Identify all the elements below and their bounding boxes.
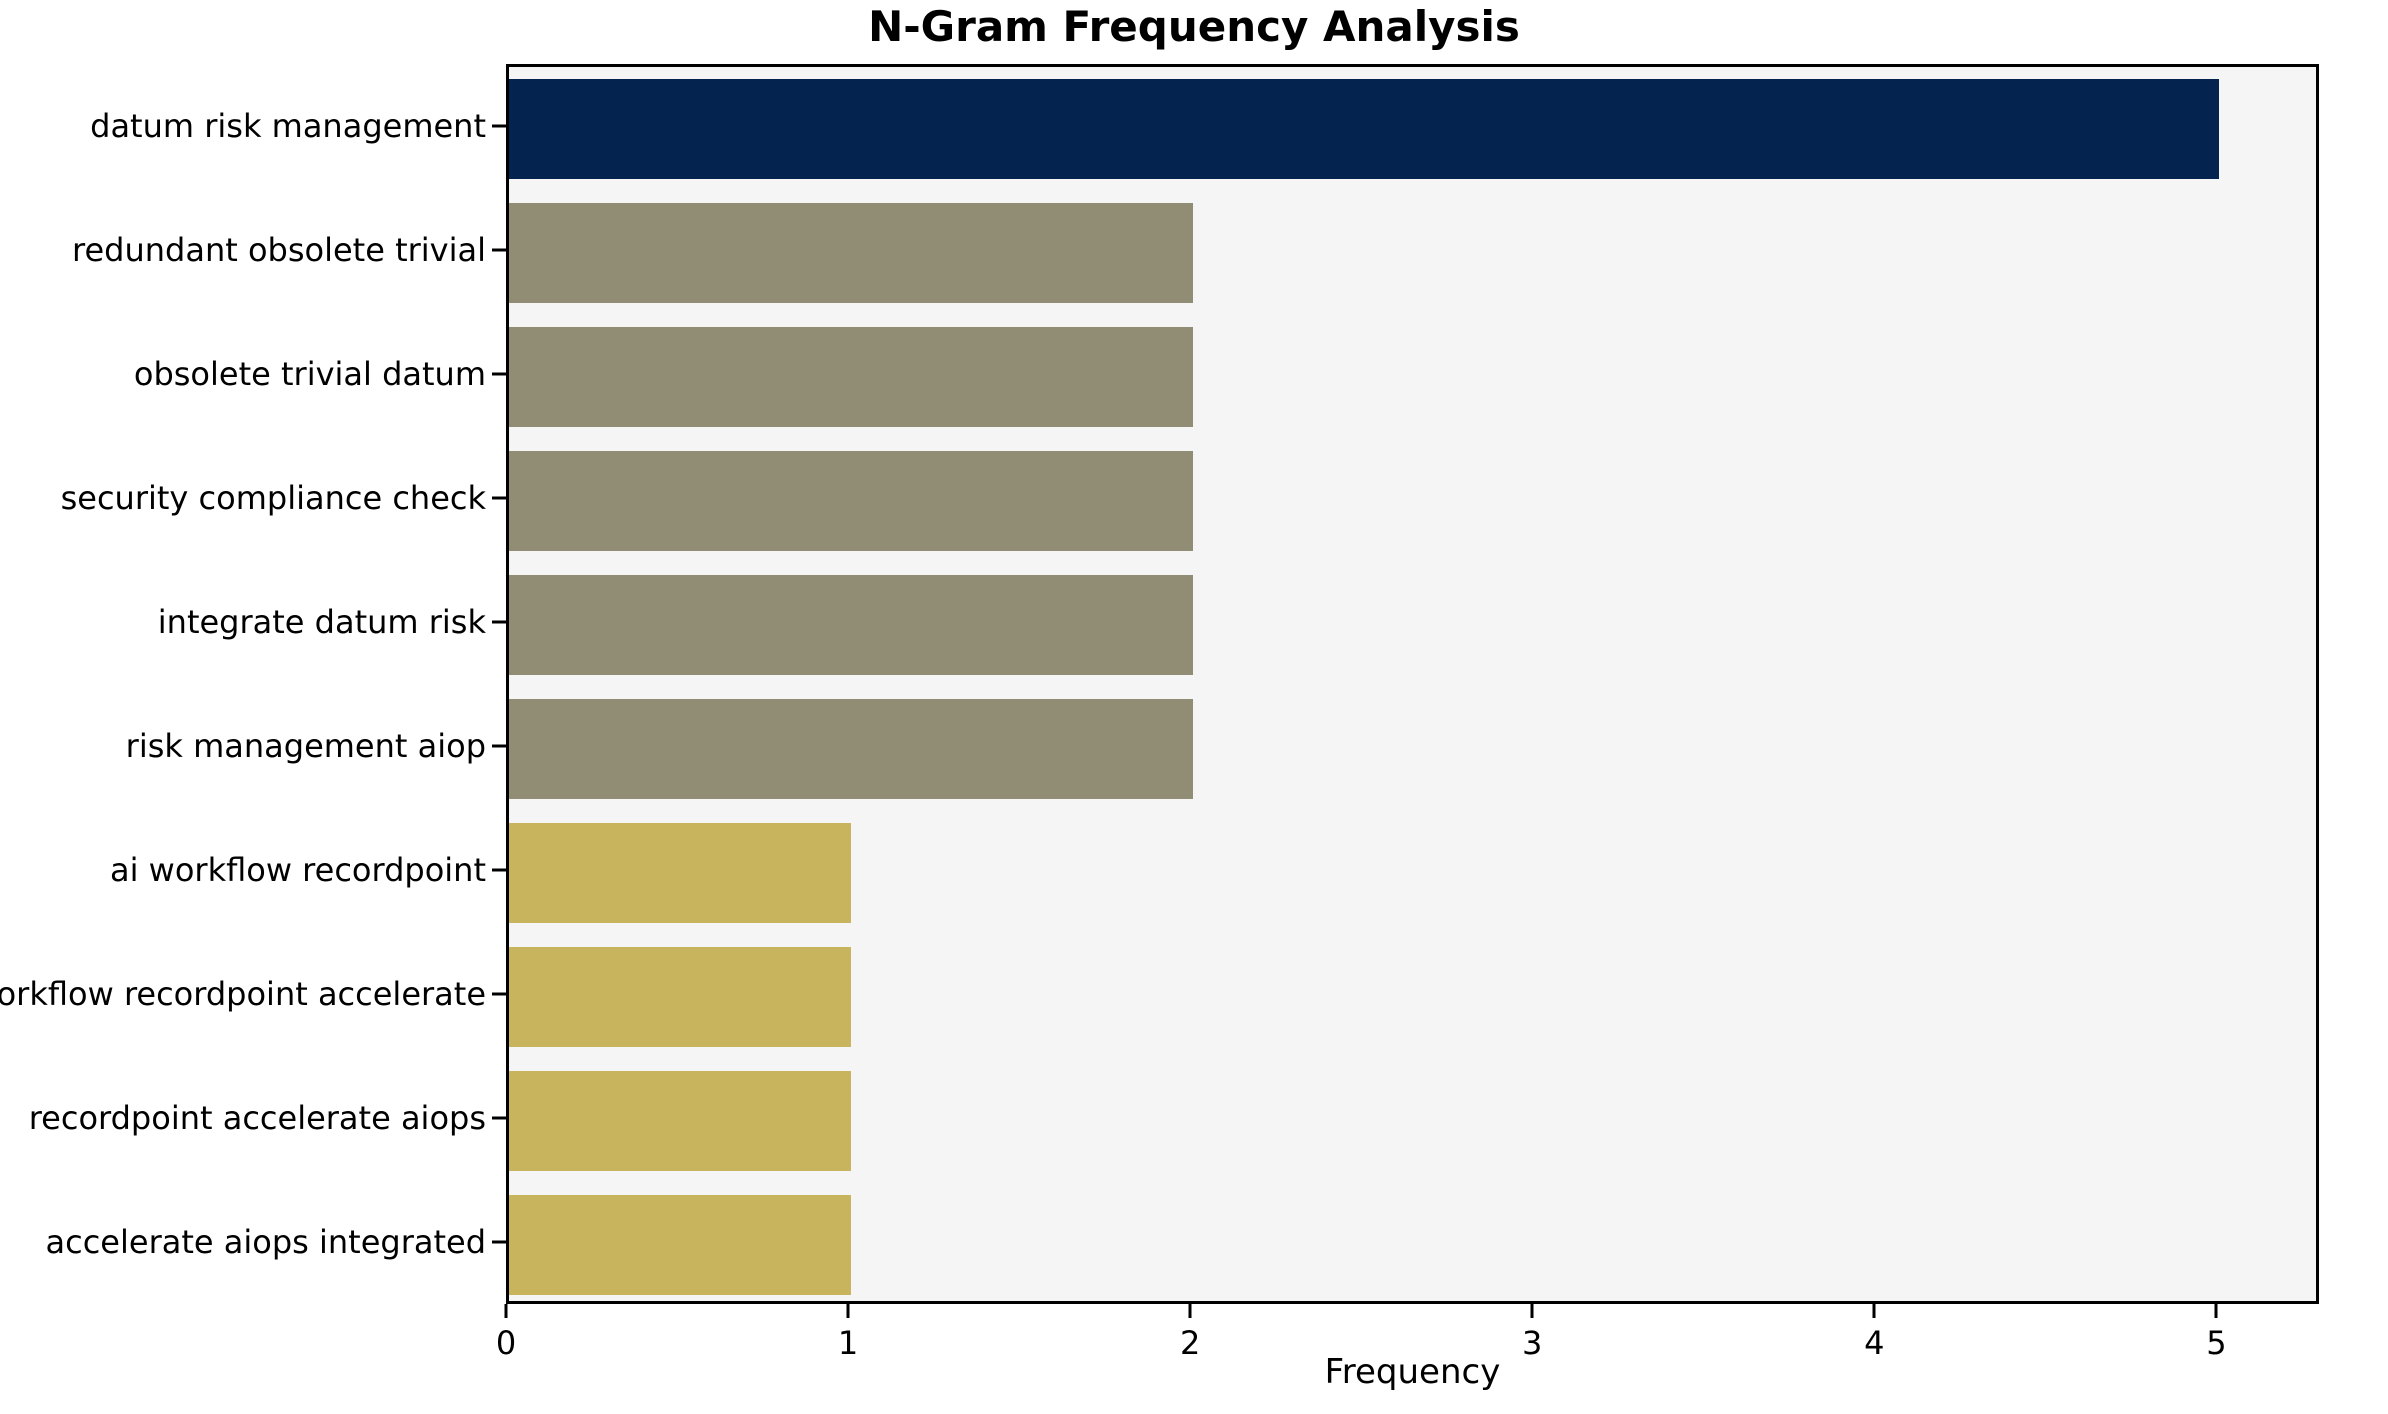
y-axis-tick-labels: datum risk managementredundant obsolete … [0,64,506,1304]
y-tick-mark [492,621,506,624]
y-tick-label: datum risk management [90,107,486,145]
y-tick-mark [492,1117,506,1120]
bar-row [509,79,2316,178]
y-tick-label: obsolete trivial datum [134,355,486,393]
bar-row [509,1071,2316,1170]
y-tick-mark [492,125,506,128]
y-tick-mark [492,497,506,500]
chart-figure: N-Gram Frequency Analysis datum risk man… [0,0,2388,1414]
bar-row [509,203,2316,302]
bar [509,947,851,1046]
bar [509,451,1193,550]
bar [509,823,851,922]
y-tick-mark [492,373,506,376]
bar-row [509,823,2316,922]
bar [509,699,1193,798]
bar [509,203,1193,302]
chart-title: N-Gram Frequency Analysis [0,2,2388,51]
bar [509,1195,851,1294]
bar [509,1071,851,1170]
bars-layer [509,67,2316,1301]
y-tick-label: integrate datum risk [158,603,486,641]
y-tick-label: workflow recordpoint accelerate [0,975,486,1013]
x-tick-mark [1873,1304,1876,1318]
x-tick-mark [1531,1304,1534,1318]
x-tick-mark [505,1304,508,1318]
bar [509,575,1193,674]
bar [509,79,2219,178]
y-tick-label: security compliance check [61,479,486,517]
bar-row [509,451,2316,550]
y-tick-mark [492,249,506,252]
bar-row [509,575,2316,674]
y-tick-mark [492,745,506,748]
y-tick-mark [492,869,506,872]
bar-row [509,947,2316,1046]
x-tick-mark [847,1304,850,1318]
bar-row [509,327,2316,426]
y-tick-label: accelerate aiops integrated [46,1223,487,1261]
x-axis-label: Frequency [506,1352,2319,1392]
bar-row [509,1195,2316,1294]
y-tick-label: ai workflow recordpoint [110,851,486,889]
y-tick-label: risk management aiop [126,727,486,765]
bar [509,327,1193,426]
y-tick-mark [492,1241,506,1244]
y-tick-label: recordpoint accelerate aiops [29,1099,486,1137]
plot-area [506,64,2319,1304]
x-tick-mark [1189,1304,1192,1318]
x-tick-mark [2215,1304,2218,1318]
y-tick-mark [492,993,506,996]
y-tick-label: redundant obsolete trivial [72,231,486,269]
bar-row [509,699,2316,798]
